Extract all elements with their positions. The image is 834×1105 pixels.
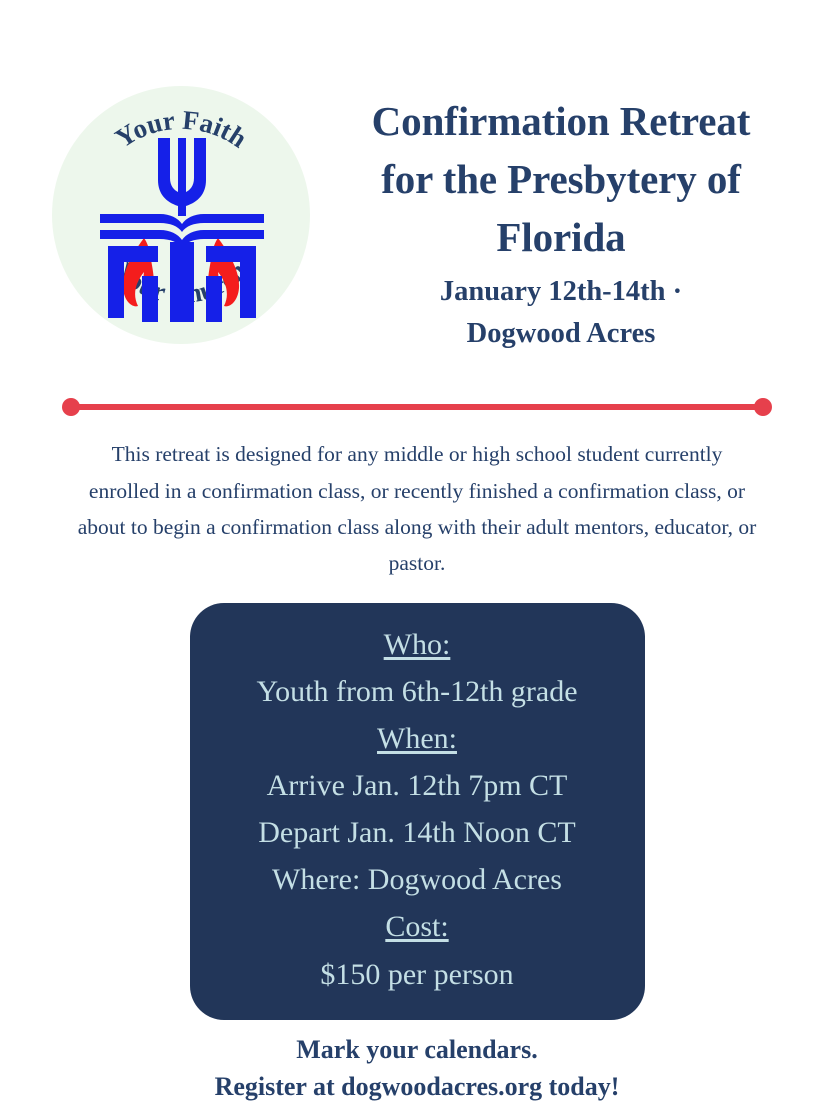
- details-value: $150 per person: [210, 951, 625, 998]
- title-line-3: Florida: [318, 208, 804, 266]
- details-value: Where: Dogwood Acres: [210, 856, 625, 903]
- title-line-2: for the Presbytery of: [318, 150, 804, 208]
- logo-artwork: Your Faith Your Church: [52, 86, 310, 344]
- details-card: Who:Youth from 6th-12th gradeWhen:Arrive…: [190, 603, 645, 1020]
- title-line-1: Confirmation Retreat: [318, 92, 804, 150]
- details-value: Youth from 6th-12th grade: [210, 668, 625, 715]
- divider-dot-right: [754, 398, 772, 416]
- subtitle-line-2: Dogwood Acres: [318, 313, 804, 355]
- cross-emblem-icon: [100, 138, 264, 322]
- section-divider: [62, 398, 772, 416]
- details-heading: Who:: [210, 621, 625, 668]
- footer-line-2: Register at dogwoodacres.org today!: [0, 1069, 834, 1105]
- flyer-header: Your Faith Your Church: [0, 0, 834, 354]
- flyer-footer: Mark your calendars. Register at dogwood…: [0, 1032, 834, 1105]
- details-heading: When:: [210, 715, 625, 762]
- title-block: Confirmation Retreat for the Presbytery …: [310, 78, 804, 354]
- divider-line: [71, 404, 763, 410]
- flyer-title: Confirmation Retreat for the Presbytery …: [318, 92, 804, 267]
- details-value: Arrive Jan. 12th 7pm CT: [210, 762, 625, 809]
- details-value: Depart Jan. 14th Noon CT: [210, 809, 625, 856]
- flyer-subtitle: January 12th-14th · Dogwood Acres: [318, 271, 804, 355]
- subtitle-line-1: January 12th-14th ·: [318, 271, 804, 313]
- details-card-lines: Who:Youth from 6th-12th gradeWhen:Arrive…: [210, 621, 625, 998]
- church-logo: Your Faith Your Church: [52, 86, 310, 344]
- details-heading: Cost:: [210, 903, 625, 950]
- intro-paragraph: This retreat is designed for any middle …: [77, 436, 757, 580]
- footer-line-1: Mark your calendars.: [0, 1032, 834, 1069]
